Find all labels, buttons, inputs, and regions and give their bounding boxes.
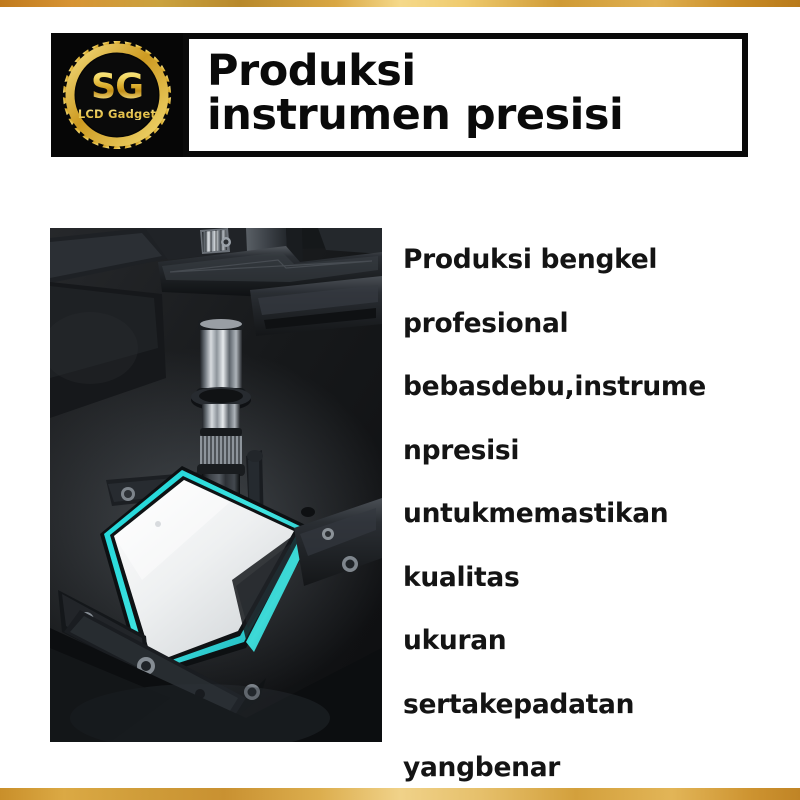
header-title-line-1: Produksi [207, 50, 742, 94]
body-copy-line-2: profesional [403, 292, 763, 356]
body-copy-line-3: bebasdebu,instrume [403, 355, 763, 419]
logo-tagline: LCD Gadget [78, 109, 156, 121]
body-copy-line-4: npresisi [403, 419, 763, 483]
promo-banner-page: SG LCD Gadget Produksi instrumen presisi [0, 0, 800, 800]
sg-badge-logo: SG LCD Gadget [61, 39, 173, 151]
logo-monogram: SG [91, 70, 143, 105]
body-copy-block: Produksi bengkel profesional bebasdebu,i… [403, 228, 763, 800]
body-copy-line-7: ukuran [403, 609, 763, 673]
gold-accent-bar-top [0, 0, 800, 7]
body-copy-line-5: untukmemastikan [403, 482, 763, 546]
header-title-line-2: instrumen presisi [207, 94, 742, 138]
body-copy-line-8: sertakepadatan [403, 673, 763, 737]
precision-machine-illustration [50, 228, 382, 742]
product-photo [50, 228, 382, 742]
brand-logo-panel: SG LCD Gadget [51, 33, 183, 157]
header-banner: SG LCD Gadget Produksi instrumen presisi [51, 33, 748, 157]
body-copy-line-1: Produksi bengkel [403, 228, 763, 292]
gold-accent-bar-bottom [0, 788, 800, 800]
header-title-panel: Produksi instrumen presisi [183, 33, 748, 157]
body-copy-line-6: kualitas [403, 546, 763, 610]
